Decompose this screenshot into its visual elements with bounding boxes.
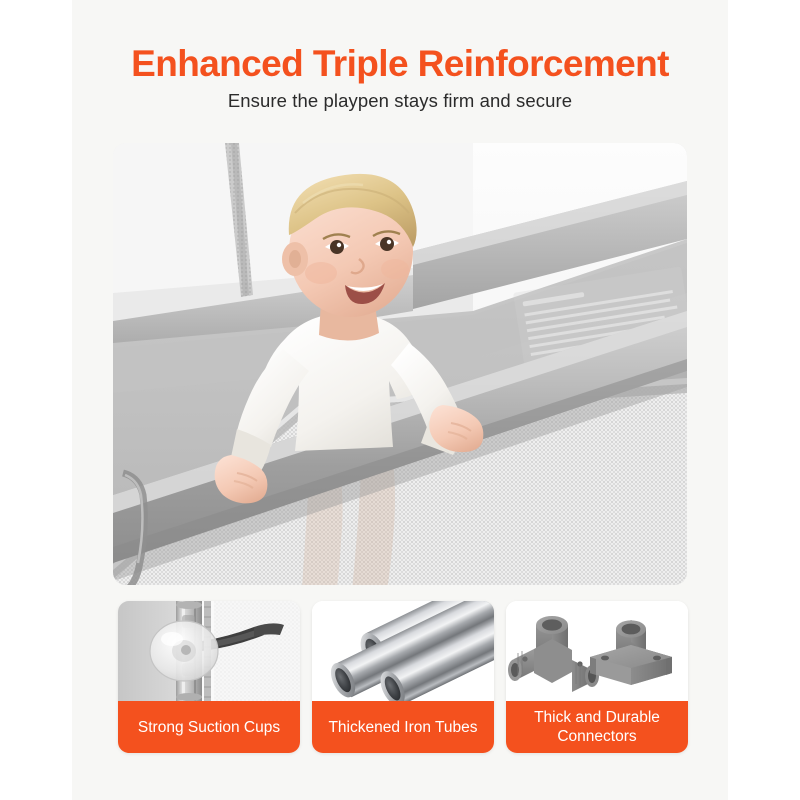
product-feature-page: Enhanced Triple Reinforcement Ensure the… bbox=[0, 0, 800, 800]
hero-illustration bbox=[113, 143, 687, 585]
feature-card-label: Thickened Iron Tubes bbox=[312, 701, 494, 753]
feature-card-label: Thick and Durable Connectors bbox=[506, 701, 688, 753]
page-subtitle: Ensure the playpen stays firm and secure bbox=[0, 88, 800, 114]
suction-cup-image bbox=[118, 601, 300, 701]
page-headline: Enhanced Triple Reinforcement bbox=[0, 42, 800, 86]
connectors-image bbox=[506, 601, 688, 701]
suction-cup-icon bbox=[118, 601, 300, 701]
feature-card-label: Strong Suction Cups bbox=[118, 701, 300, 753]
hero-image bbox=[113, 143, 687, 585]
connectors-icon bbox=[506, 601, 688, 701]
iron-tubes-icon bbox=[312, 601, 494, 701]
feature-card-connectors[interactable]: Thick and Durable Connectors bbox=[506, 601, 688, 753]
feature-card-iron-tubes[interactable]: Thickened Iron Tubes bbox=[312, 601, 494, 753]
feature-card-suction-cups[interactable]: Strong Suction Cups bbox=[118, 601, 300, 753]
iron-tubes-image bbox=[312, 601, 494, 701]
feature-card-list: Strong Suction Cups bbox=[118, 601, 688, 753]
